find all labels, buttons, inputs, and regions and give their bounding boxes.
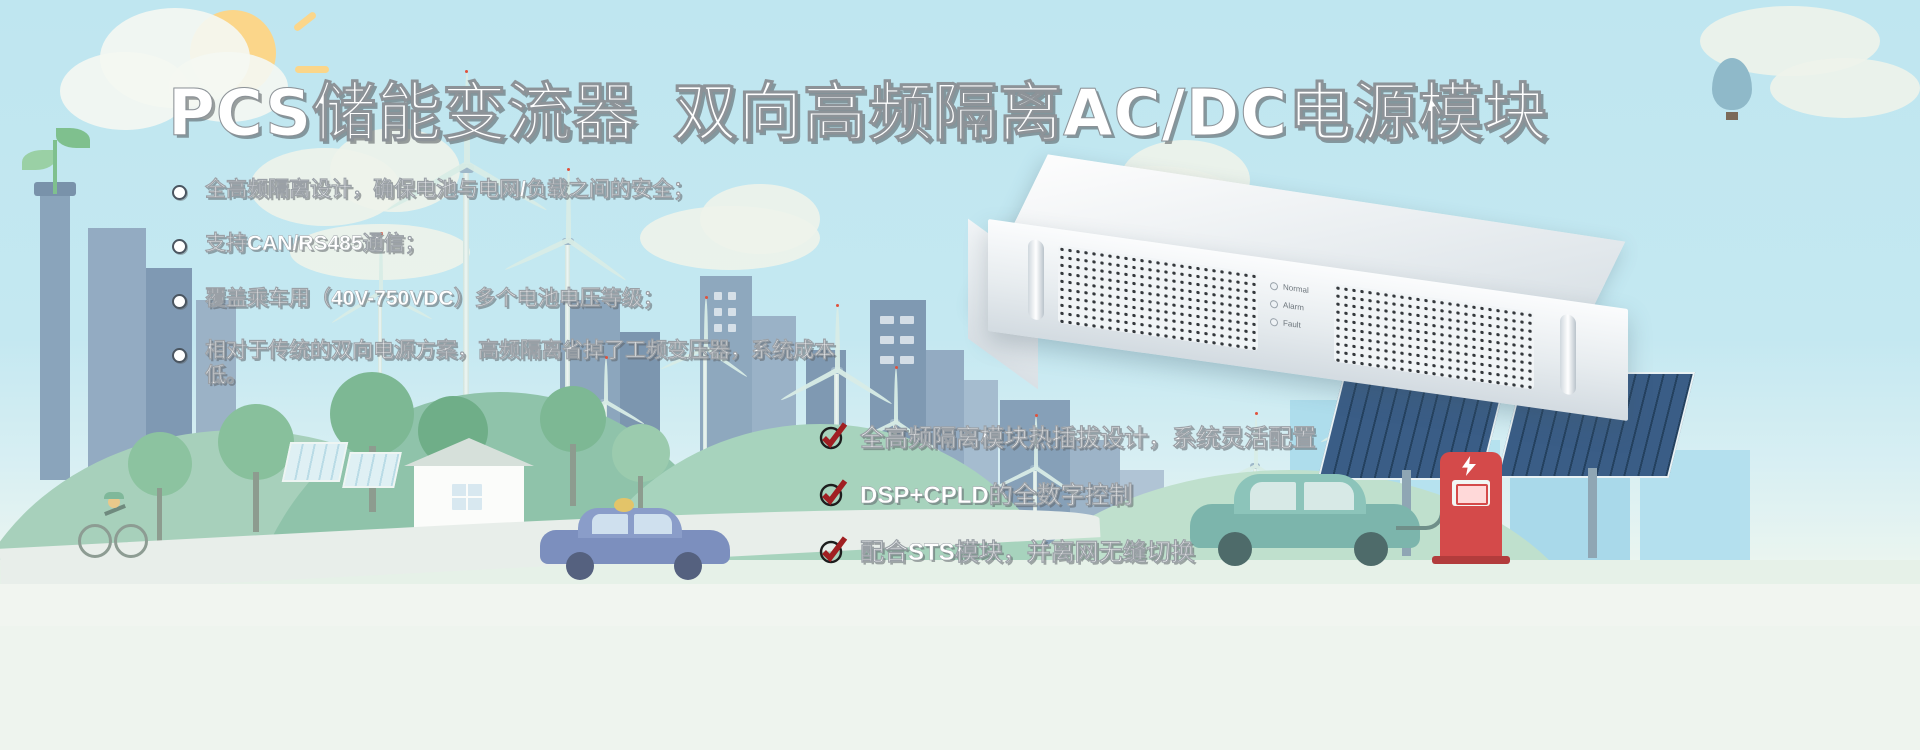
bullet-dot-icon (172, 185, 187, 200)
list-item: 相对于传统的双向电源方案，高频隔离省掉了工频变压器，系统成本低。 (172, 339, 892, 389)
feature-text: DSP+CPLD的全数字控制 (860, 475, 1133, 510)
solar-panel-leg (1588, 468, 1597, 558)
device-status-leds: Normal Alarm Fault (1270, 281, 1309, 340)
list-item: 配合STS模块，并离网无缝切换 (818, 532, 1316, 567)
led-indicator-icon (1270, 317, 1278, 326)
led-indicator-icon (1270, 281, 1278, 290)
led-label: Normal (1283, 282, 1309, 295)
feature-text: 覆盖乘车用（40V-750VDC）多个电池电压等级； (205, 285, 664, 313)
title-part-2: 双向高频隔离AC/DC电源模块 (673, 77, 1548, 151)
device-handle-left (1028, 239, 1044, 321)
led-normal: Normal (1270, 281, 1309, 295)
check-circle-icon (818, 535, 848, 565)
device-vent-right (1334, 284, 1534, 390)
check-circle-icon (818, 421, 848, 451)
check-circle-icon (818, 478, 848, 508)
list-item: DSP+CPLD的全数字控制 (818, 475, 1316, 510)
list-item: 全高频隔离设计，确保电池与电网/负载之间的安全； (172, 176, 892, 204)
feature-text: 全高频隔离模块热插拔设计，系统灵活配置 (860, 418, 1316, 453)
device-handle-right (1560, 313, 1576, 395)
list-item: 覆盖乘车用（40V-750VDC）多个电池电压等级； (172, 285, 892, 313)
led-alarm: Alarm (1270, 299, 1309, 313)
title-part-1: PCS储能变流器 (168, 77, 637, 151)
feature-text: 全高频隔离设计，确保电池与电网/负载之间的安全； (205, 176, 694, 204)
bullet-dot-icon (172, 348, 187, 363)
bullet-dot-icon (172, 294, 187, 309)
list-item: 支持CAN/RS485通信； (172, 230, 892, 258)
bullet-dot-icon (172, 239, 187, 254)
charging-cable-icon (1396, 500, 1444, 530)
pcs-power-module-image: Normal Alarm Fault (960, 178, 1660, 408)
led-label: Fault (1283, 318, 1301, 330)
charger-base (1432, 556, 1510, 564)
battery-icon (1456, 484, 1488, 505)
feature-text: 支持CAN/RS485通信； (205, 230, 426, 258)
led-fault: Fault (1270, 317, 1309, 331)
device-vent-left (1058, 245, 1258, 351)
feature-list-left: 全高频隔离设计，确保电池与电网/负载之间的安全； 支持CAN/RS485通信； … (172, 176, 892, 389)
product-banner: Normal Alarm Fault PCS储能变流器双向高频隔离AC/DC电源… (0, 0, 1920, 750)
page-title: PCS储能变流器双向高频隔离AC/DC电源模块 (168, 62, 1548, 154)
list-item: 全高频隔离模块热插拔设计，系统灵活配置 (818, 418, 1316, 453)
feature-list-right: 全高频隔离模块热插拔设计，系统灵活配置 DSP+CPLD的全数字控制 配合STS… (818, 418, 1316, 567)
feature-text: 相对于传统的双向电源方案，高频隔离省掉了工频变压器，系统成本低。 (205, 339, 845, 389)
led-label: Alarm (1283, 300, 1304, 312)
led-indicator-icon (1270, 299, 1278, 308)
feature-text: 配合STS模块，并离网无缝切换 (860, 532, 1195, 567)
